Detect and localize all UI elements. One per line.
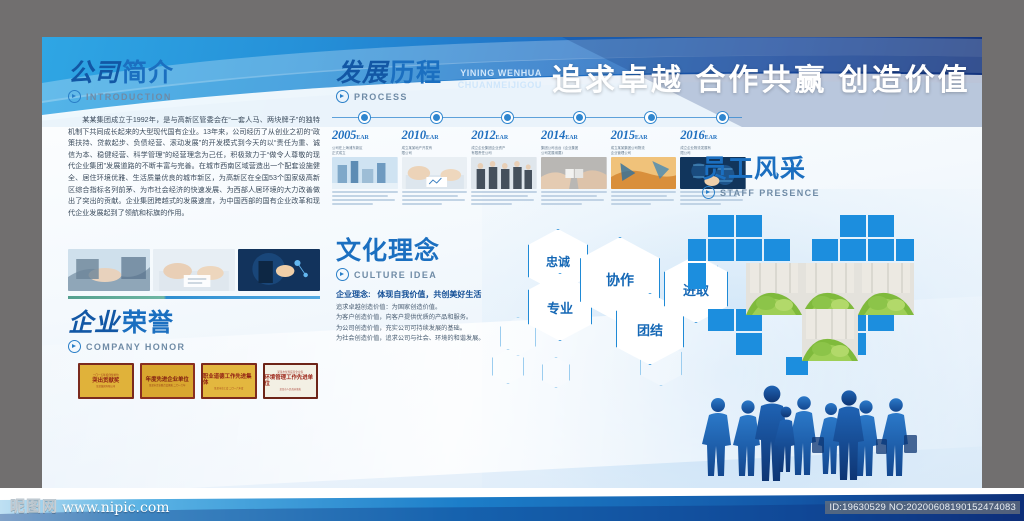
culture-wall-board: YINING WENHUA CHUANMEIJIGOU 追求卓越 合作共赢 创造…	[42, 37, 982, 489]
site-watermark: 昵图网 www.nipic.com	[10, 495, 170, 516]
plaque-sub-text: 某某集团有限公司	[96, 385, 115, 388]
timeline-year-desc: 集团公司出台《企业集团公司发展纲要》	[541, 146, 607, 155]
mosaic-tile	[708, 239, 734, 261]
timeline-year: 2016EAR	[680, 129, 746, 145]
puzzle-hands-photo	[541, 157, 607, 189]
timeline-axis	[332, 111, 742, 125]
honor-title-brush: 企业	[68, 308, 122, 337]
staff-title: 员工风采	[702, 155, 922, 183]
mosaic-tile	[896, 239, 914, 261]
timeline-year-desc: 成立某某集团公司物流企业管理公司	[611, 146, 677, 155]
timeline-card-text	[541, 191, 607, 207]
mosaic-tile	[764, 239, 790, 261]
timeline-year: 2015EAR	[611, 129, 677, 145]
award-plaque[interactable]: 某某市优秀民营企业家环境管理工作先进单位某某市人民政府颁发	[263, 363, 319, 399]
culture-motto: 企业理念: 体现自我价值，共创美好生活	[336, 289, 481, 300]
timeline-year: 2005EAR	[332, 129, 398, 145]
site-url: www.nipic.com	[62, 500, 170, 516]
timeline-dot[interactable]	[358, 111, 371, 124]
culture-motto-value: 体现自我价值，共创美好生活	[377, 290, 481, 299]
section-introduction: 公司简介 INTRODUCTION	[68, 59, 318, 103]
timeline-dot[interactable]	[430, 111, 443, 124]
section-staff-presence: 员工风采 STAFF PRESENCE	[702, 155, 922, 199]
mosaic-tile	[736, 333, 762, 355]
introduction-subtitle: INTRODUCTION	[68, 90, 318, 103]
culture-subtitle-text: CULTURE IDEA	[354, 270, 437, 280]
introduction-divider	[68, 296, 320, 299]
page-footer: 昵图网 www.nipic.com ID:19630529 NO:2020060…	[0, 488, 1024, 521]
timeline-card[interactable]: 2012EAR成立企业集团企业资产有限责任公司	[471, 129, 537, 211]
mosaic-tile	[868, 239, 894, 261]
timeline-year-desc: 成立企业集团企业资产有限责任公司	[471, 146, 537, 155]
asset-id-tag: ID:19630529 NO:20200608190152474083	[825, 501, 1020, 514]
honor-title: 企业荣誉	[68, 309, 318, 337]
play-icon	[68, 340, 81, 353]
mosaic-tile	[688, 263, 706, 289]
plaque-sub-text: 某某市人民政府颁发	[279, 388, 301, 391]
staff-subtitle-text: STAFF PRESENCE	[720, 188, 820, 198]
timeline-year-desc: 成立某某地产开发有限公司	[402, 146, 468, 155]
building-greenery-photo	[858, 263, 914, 315]
timeline-card-text	[402, 191, 468, 207]
honor-subtitle: COMPANY HONOR	[68, 340, 318, 353]
touchscreen-photo	[238, 249, 320, 291]
mosaic-tile	[708, 215, 734, 237]
timeline-card-text	[471, 191, 537, 207]
site-name-cn: 昵图网	[10, 495, 58, 516]
mosaic-tile	[688, 239, 706, 261]
introduction-body: 某某集团成立于1992年，是与高新区管委会在“一套人马、两块牌子”的独特机制下共…	[68, 115, 320, 219]
award-plaque[interactable]: 年度先进企业单位某某市企业联合会颁发 二〇一六年	[140, 363, 196, 399]
honor-title-rest: 荣誉	[122, 309, 174, 337]
award-plaque[interactable]: 二〇一五年度创优单位突出贡献奖某某集团有限公司	[78, 363, 134, 399]
play-icon	[336, 90, 349, 103]
building-greenery-photo	[746, 263, 802, 315]
plaque-main-text: 职业道德工作先进集体	[203, 374, 255, 386]
timeline-card[interactable]: 2015EAR成立某某集团公司物流企业管理公司	[611, 129, 677, 211]
process-title-rest: 历程	[390, 59, 442, 87]
mosaic-tile	[736, 215, 762, 237]
timeline-card[interactable]: 2005EAR公司在上海浦东新区正式成立	[332, 129, 398, 211]
timeline-dot[interactable]	[644, 111, 657, 124]
silhouette-graphic	[690, 375, 942, 483]
process-subtitle: PROCESS	[336, 90, 636, 103]
plaque-sub-text: 某某市总工会 二〇一六年度	[214, 387, 243, 390]
meeting-notes-photo	[153, 249, 235, 291]
mosaic-tile	[812, 239, 838, 261]
award-plaque-list: 二〇一五年度创优单位突出贡献奖某某集团有限公司年度先进企业单位某某市企业联合会颁…	[78, 363, 318, 399]
plaque-main-text: 环境管理工作先进单位	[265, 375, 317, 387]
logistics-photo	[611, 157, 677, 189]
timeline-year: 2010EAR	[402, 129, 468, 145]
introduction-paragraph: 某某集团成立于1992年，是与高新区管委会在“一套人马、两块牌子”的独特机制下共…	[68, 115, 320, 219]
timeline-dot[interactable]	[716, 111, 729, 124]
process-title: 发展历程	[336, 59, 636, 87]
plaque-sub-text: 某某市企业联合会颁发 二〇一六年	[149, 384, 186, 387]
section-company-honor: 企业荣誉 COMPANY HONOR	[68, 309, 318, 353]
honor-subtitle-text: COMPANY HONOR	[86, 342, 185, 352]
desk-chart-photo	[402, 157, 468, 189]
culture-motto-label: 企业理念:	[336, 290, 371, 299]
mosaic-tile	[736, 239, 762, 261]
city-skyline-photo	[332, 157, 398, 189]
plaque-top-text: 某某市优秀民营企业家	[277, 371, 303, 374]
timeline-year: 2012EAR	[471, 129, 537, 145]
award-plaque[interactable]: 职业道德工作先进集体某某市总工会 二〇一六年度	[201, 363, 257, 399]
timeline-card-text	[611, 191, 677, 207]
handshake-photo	[68, 249, 150, 291]
mosaic-tile	[840, 215, 866, 237]
introduction-title-brush: 公司	[68, 58, 122, 87]
plaque-top-text: 二〇一五年度创优单位	[93, 374, 119, 377]
building-greenery-photo	[802, 309, 858, 361]
timeline-card-text	[332, 191, 398, 207]
team-group-photo	[471, 157, 537, 189]
play-icon	[68, 90, 81, 103]
play-icon	[702, 186, 715, 199]
introduction-title-rest: 简介	[122, 59, 174, 87]
timeline-card-list: 2005EAR公司在上海浦东新区正式成立2010EAR成立某某地产开发有限公司2…	[332, 129, 746, 211]
introduction-subtitle-text: INTRODUCTION	[86, 92, 172, 102]
plaque-main-text: 年度先进企业单位	[146, 377, 189, 383]
timeline-card[interactable]: 2010EAR成立某某地产开发有限公司	[402, 129, 468, 211]
timeline-year-desc: 公司在上海浦东新区正式成立	[332, 146, 398, 155]
business-team-silhouette	[690, 375, 942, 483]
poster-canvas: YINING WENHUA CHUANMEIJIGOU 追求卓越 合作共赢 创造…	[0, 0, 1024, 521]
timeline-dot[interactable]	[573, 111, 586, 124]
introduction-title: 公司简介	[68, 59, 318, 87]
process-title-brush: 发展	[336, 58, 390, 87]
timeline-year-desc: 成立企业物流发展有限公司	[680, 146, 746, 155]
mosaic-tile	[840, 239, 866, 261]
timeline-line	[332, 117, 742, 118]
mosaic-tile	[868, 215, 894, 237]
building-greenery-photo	[802, 263, 858, 315]
plaque-main-text: 突出贡献奖	[92, 378, 119, 384]
section-process: 发展历程 PROCESS	[336, 59, 636, 103]
timeline-card[interactable]: 2014EAR集团公司出台《企业集团公司发展纲要》	[541, 129, 607, 211]
timeline-year: 2014EAR	[541, 129, 607, 145]
mosaic-tile	[708, 309, 734, 331]
staff-photo-mosaic	[690, 209, 940, 379]
introduction-photo-strip	[68, 249, 320, 291]
process-subtitle-text: PROCESS	[354, 92, 408, 102]
play-icon	[336, 268, 349, 281]
staff-subtitle: STAFF PRESENCE	[702, 186, 922, 199]
timeline-dot[interactable]	[501, 111, 514, 124]
